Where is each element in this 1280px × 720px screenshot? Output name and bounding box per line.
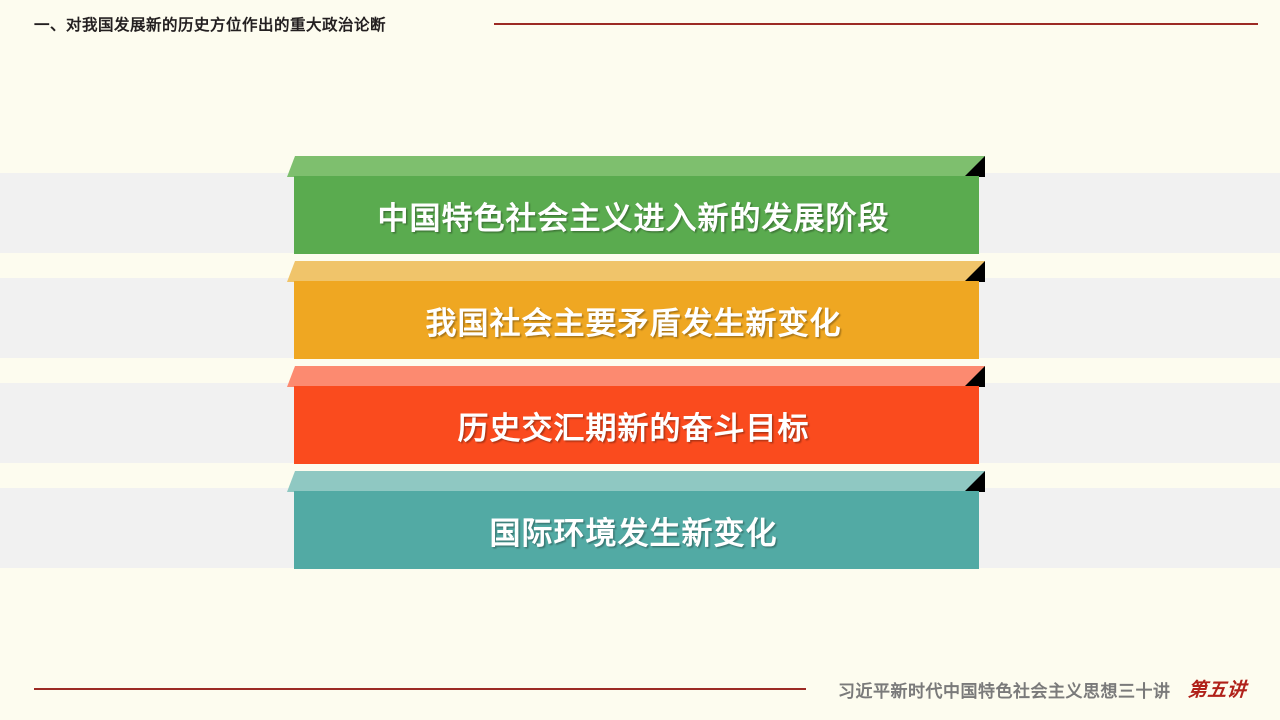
banner-top-face (287, 156, 985, 177)
banner-body: 国际环境发生新变化 (294, 491, 979, 569)
footer-lecture-label: 第五讲 (1187, 675, 1247, 702)
slide-canvas: 一、对我国发展新的历史方位作出的重大政治论断 中国特色社会主义进入新的发展阶段我… (0, 0, 1280, 720)
banner-fold-cap (287, 155, 987, 177)
banner-ribbon[interactable]: 国际环境发生新变化 (287, 470, 987, 575)
banner-top-face (287, 261, 985, 282)
banner-body: 中国特色社会主义进入新的发展阶段 (294, 176, 979, 254)
banner-list: 中国特色社会主义进入新的发展阶段我国社会主要矛盾发生新变化历史交汇期新的奋斗目标… (0, 0, 1280, 720)
banner-fold-cap (287, 470, 987, 492)
banner-fold-cap (287, 365, 987, 387)
banner-label: 我国社会主要矛盾发生新变化 (294, 281, 979, 359)
banner-ribbon[interactable]: 我国社会主要矛盾发生新变化 (287, 260, 987, 365)
banner-label: 国际环境发生新变化 (294, 491, 979, 569)
slide-footer: 习近平新时代中国特色社会主义思想三十讲 第五讲 (0, 672, 1280, 720)
banner-fold-cap (287, 260, 987, 282)
banner-body: 我国社会主要矛盾发生新变化 (294, 281, 979, 359)
banner-top-face (287, 471, 985, 492)
banner-body: 历史交汇期新的奋斗目标 (294, 386, 979, 464)
banner-label: 中国特色社会主义进入新的发展阶段 (294, 176, 979, 254)
banner-top-face (287, 366, 985, 387)
footer-series-title: 习近平新时代中国特色社会主义思想三十讲 (838, 677, 1171, 702)
banner-ribbon[interactable]: 历史交汇期新的奋斗目标 (287, 365, 987, 470)
banner-ribbon[interactable]: 中国特色社会主义进入新的发展阶段 (287, 155, 987, 260)
footer-divider-rule (34, 688, 806, 690)
banner-label: 历史交汇期新的奋斗目标 (294, 386, 979, 464)
